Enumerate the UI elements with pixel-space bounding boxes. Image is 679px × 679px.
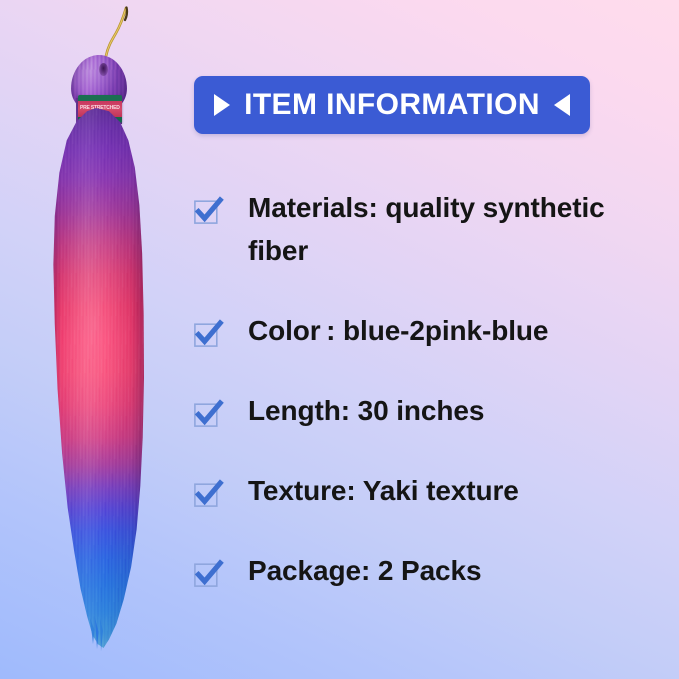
hair-tip-strands <box>86 618 112 652</box>
banner-title: ITEM INFORMATION <box>244 88 540 122</box>
list-item: Length: 30 inches <box>194 389 634 432</box>
checkbox-checked-icon <box>194 480 221 507</box>
hair-knot-dimple <box>99 63 108 76</box>
checkbox-checked-icon <box>194 560 221 587</box>
checkbox-checked-icon <box>194 197 221 224</box>
list-item-label: Length: 30 inches <box>248 389 484 432</box>
list-item-label: Texture: Yaki texture <box>248 469 519 512</box>
product-info-image: PRE STRETCHED BRAIDING HAIR ITEM INFORMA… <box>0 0 679 679</box>
list-item: Package: 2 Packs <box>194 549 634 592</box>
checkbox-checked-icon <box>194 400 221 427</box>
triangle-left-icon <box>554 94 570 116</box>
list-item-label: Color : blue-2pink-blue <box>248 309 548 352</box>
list-item-label: Package: 2 Packs <box>248 549 481 592</box>
list-item: Texture: Yaki texture <box>194 469 634 512</box>
checkbox-checked-icon <box>194 320 221 347</box>
list-item: Materials: quality synthetic fiber <box>194 186 634 272</box>
item-information-banner: ITEM INFORMATION <box>194 76 590 134</box>
product-photo: PRE STRETCHED BRAIDING HAIR <box>0 0 190 679</box>
list-item-label: Materials: quality synthetic fiber <box>248 186 626 272</box>
list-item: Color : blue-2pink-blue <box>194 309 634 352</box>
triangle-right-icon <box>214 94 230 116</box>
specification-list: Materials: quality synthetic fiber Color… <box>194 186 634 592</box>
hair-bundle-body <box>52 108 144 648</box>
